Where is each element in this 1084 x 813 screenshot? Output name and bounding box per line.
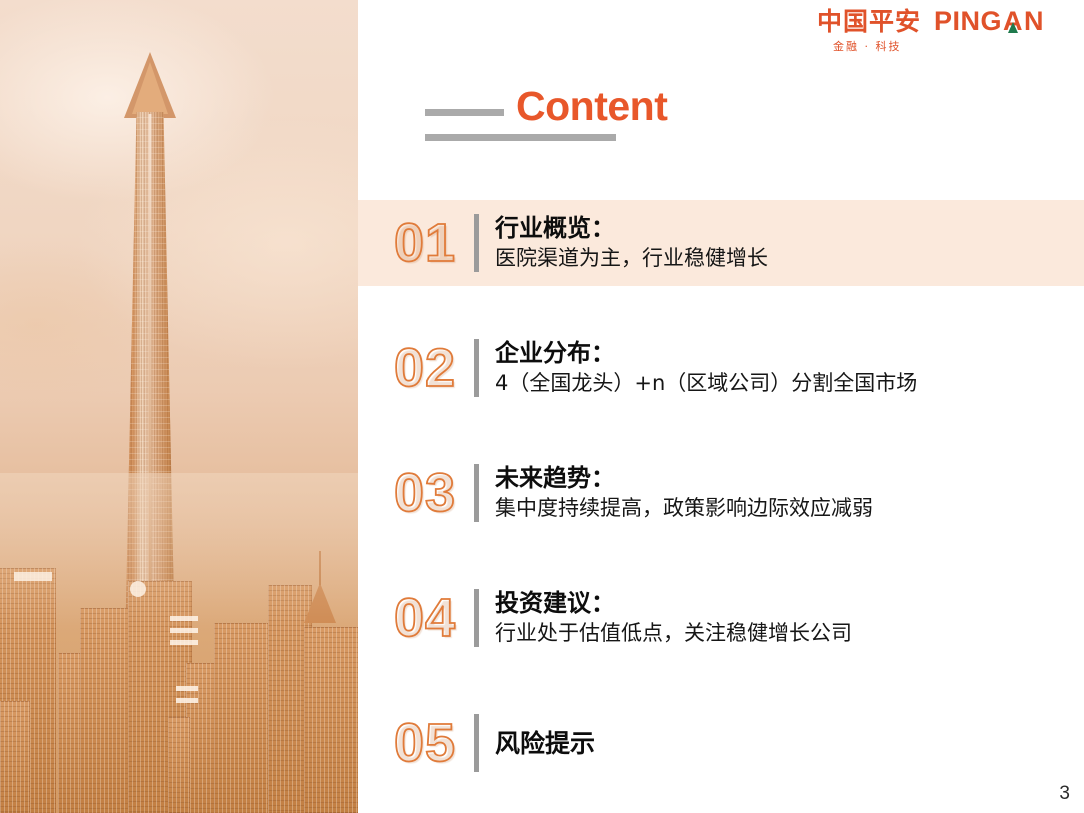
agenda-divider-bar [474, 339, 479, 397]
agenda-title-02: 企业分布： [495, 340, 1084, 368]
agenda-number-01: 01 [376, 216, 474, 270]
agenda-divider-bar [474, 214, 479, 272]
agenda-divider-bar [474, 589, 479, 647]
agenda-text-03: 未来趋势： 集中度持续提高，政策影响边际效应减弱 [495, 465, 1084, 521]
agenda-subtitle-04: 行业处于估值低点，关注稳健增长公司 [495, 621, 1084, 646]
agenda-title-03: 未来趋势： [495, 465, 1084, 493]
agenda-title-01: 行业概览： [495, 215, 1084, 243]
agenda-number-05: 05 [376, 716, 474, 770]
page-number: 3 [1059, 783, 1070, 805]
agenda-item-05[interactable]: 05 风险提示 [358, 700, 1084, 786]
agenda-number-04: 04 [376, 591, 474, 645]
agenda-item-03[interactable]: 03 未来趋势： 集中度持续提高，政策影响边际效应减弱 [358, 450, 1084, 536]
agenda-number-02: 02 [376, 341, 474, 395]
agenda-item-02[interactable]: 02 企业分布： 4（全国龙头）+n（区域公司）分割全国市场 [358, 325, 1084, 411]
agenda-text-01: 行业概览： 医院渠道为主，行业稳健增长 [495, 215, 1084, 271]
agenda-subtitle-02: 4（全国龙头）+n（区域公司）分割全国市场 [495, 371, 1084, 396]
agenda-subtitle-01: 医院渠道为主，行业稳健增长 [495, 246, 1084, 271]
agenda-title-05: 风险提示 [495, 729, 1084, 758]
agenda-text-04: 投资建议： 行业处于估值低点，关注稳健增长公司 [495, 590, 1084, 646]
agenda-divider-bar [474, 464, 479, 522]
agenda-subtitle-03: 集中度持续提高，政策影响边际效应减弱 [495, 496, 1084, 521]
agenda-title-04: 投资建议： [495, 590, 1084, 618]
agenda-text-05: 风险提示 [495, 729, 1084, 758]
agenda-divider-bar [474, 714, 479, 772]
agenda-item-01[interactable]: 01 行业概览： 医院渠道为主，行业稳健增长 [358, 200, 1084, 286]
agenda-number-03: 03 [376, 466, 474, 520]
slide: 中国平安 PING A N 金融 · 科技 Content 01 行业概览： 医… [0, 0, 1084, 813]
agenda-text-02: 企业分布： 4（全国龙头）+n（区域公司）分割全国市场 [495, 340, 1084, 396]
agenda-list: 01 行业概览： 医院渠道为主，行业稳健增长 02 企业分布： 4（全国龙头）+… [0, 0, 1084, 813]
agenda-item-04[interactable]: 04 投资建议： 行业处于估值低点，关注稳健增长公司 [358, 575, 1084, 661]
